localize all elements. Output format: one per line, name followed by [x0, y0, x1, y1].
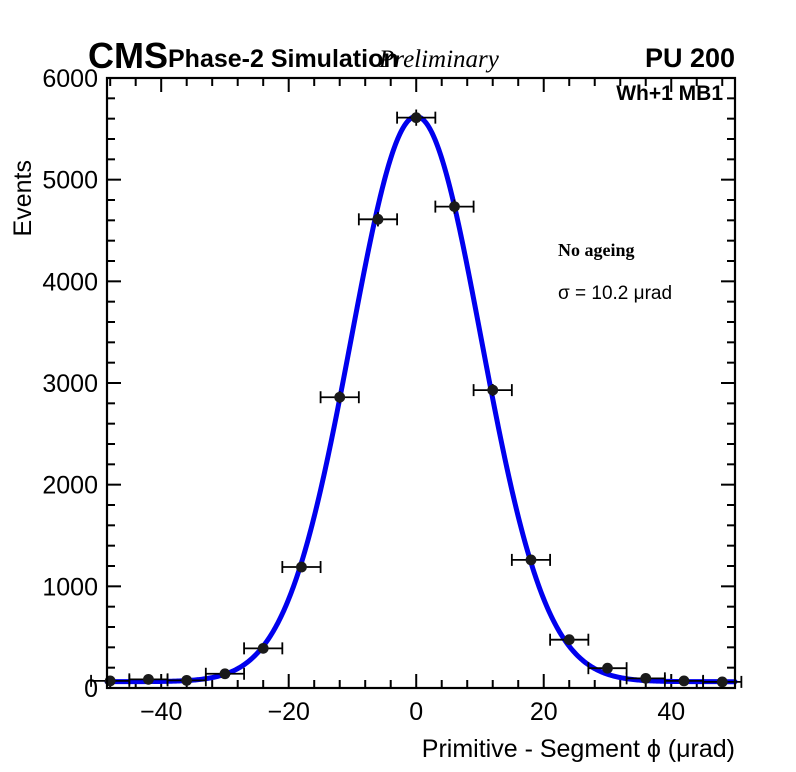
y-tick-label: 4000	[42, 268, 98, 296]
simulation-label: Phase-2 Simulation	[168, 45, 399, 73]
data-point	[717, 677, 728, 688]
data-point	[143, 674, 154, 685]
x-tick-label: −20	[267, 698, 309, 726]
data-point	[258, 643, 269, 654]
data-point	[220, 668, 231, 679]
data-point	[373, 214, 384, 225]
y-tick-label: 1000	[42, 573, 98, 601]
x-tick-label: 0	[409, 698, 423, 726]
cms-logo-text: CMS	[88, 35, 168, 76]
data-point	[411, 112, 422, 123]
data-point	[526, 555, 537, 566]
sigma-annotation: σ = 10.2 μrad	[558, 283, 672, 304]
region-annotation: Wh+1 MB1	[616, 82, 723, 105]
y-axis-title: Events	[9, 160, 37, 236]
x-axis-title: Primitive - Segment ϕ (μrad)	[422, 735, 735, 763]
physics-plot: CMS Phase-2 Simulation Preliminary PU 20…	[0, 0, 796, 772]
pileup-label: PU 200	[645, 43, 735, 73]
data-point	[640, 673, 651, 684]
data-point	[679, 675, 690, 686]
data-point	[487, 385, 498, 396]
x-tick-label: 20	[530, 698, 558, 726]
y-tick-label: 3000	[42, 370, 98, 398]
data-point	[181, 675, 192, 686]
ageing-annotation: No ageing	[558, 240, 635, 260]
x-tick-label: −40	[140, 698, 182, 726]
preliminary-label: Preliminary	[378, 46, 500, 73]
y-tick-label: 5000	[42, 167, 98, 195]
x-tick-label: 40	[657, 698, 685, 726]
data-point	[296, 562, 307, 573]
y-tick-label: 2000	[42, 472, 98, 500]
data-point	[564, 634, 575, 645]
plot-canvas: CMS Phase-2 Simulation Preliminary PU 20…	[0, 0, 796, 772]
data-point	[449, 201, 460, 212]
y-tick-label: 6000	[42, 65, 98, 93]
plot-background	[0, 0, 796, 772]
data-point	[602, 663, 613, 674]
data-point	[334, 392, 345, 403]
